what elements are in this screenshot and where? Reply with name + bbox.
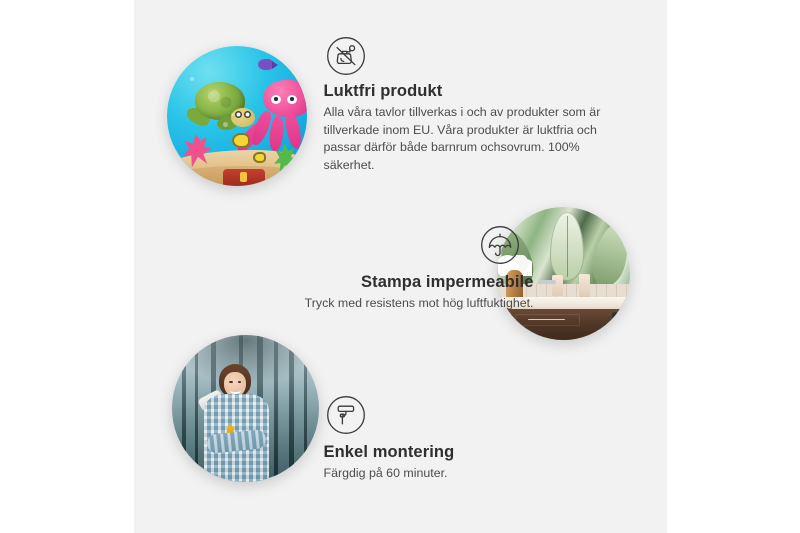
feature-body: Alla våra tavlor tillverkas i och av pro… xyxy=(324,104,609,174)
toiletry-bottle xyxy=(552,275,563,296)
purple-fish xyxy=(258,59,273,70)
treasure-chest xyxy=(223,169,265,186)
faucet xyxy=(540,280,556,284)
yellow-fish xyxy=(232,133,250,148)
feature-body: Tryck med resistens mot hög luftfuktighe… xyxy=(204,295,534,313)
bubble-icon xyxy=(223,122,228,127)
feature-body: Färgdig på 60 minuter. xyxy=(324,465,624,483)
feature-waterproof: Stampa impermeabile Tryck med resistens … xyxy=(204,225,534,313)
yellow-fish xyxy=(253,152,266,163)
octopus-eye-right xyxy=(287,95,297,104)
painter-scene xyxy=(172,335,319,482)
wood-vanity xyxy=(504,309,629,340)
woman-with-paint-roller-photo xyxy=(172,335,319,482)
underwater-kids-mural-photo xyxy=(167,46,307,186)
no-fragrance-icon xyxy=(326,36,366,76)
umbrella-icon xyxy=(480,225,520,265)
octopus-eye-left xyxy=(271,95,281,104)
underwater-scene xyxy=(167,46,307,186)
paint-roller-icon xyxy=(326,395,366,435)
feature-title: Enkel montering xyxy=(324,443,624,462)
feature-panel: Luktfri produkt Alla våra tavlor tillver… xyxy=(134,0,667,533)
toiletry-bottle xyxy=(579,274,590,298)
feature-easy-install: Enkel montering Färgdig på 60 minuter. xyxy=(324,395,624,483)
feature-odourless: Luktfri produkt Alla våra tavlor tillver… xyxy=(324,36,624,174)
feature-title: Luktfri produkt xyxy=(324,82,624,101)
vanity-drawer xyxy=(515,314,579,326)
turtle-head xyxy=(231,108,255,128)
woman-smile xyxy=(230,387,240,393)
feature-title: Stampa impermeabile xyxy=(204,273,534,292)
vanity-handle xyxy=(612,312,619,335)
